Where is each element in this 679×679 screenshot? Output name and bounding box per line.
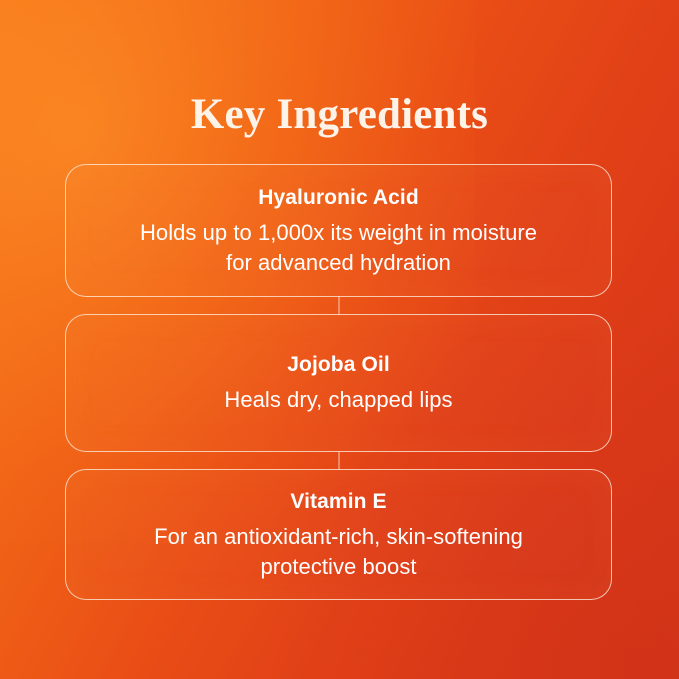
ingredient-card-title: Vitamin E (290, 488, 386, 515)
ingredient-card-wrapper: Vitamin E For an antioxidant-rich, skin-… (65, 469, 612, 600)
ingredient-card-description: Holds up to 1,000x its weight in moistur… (139, 218, 539, 278)
ingredient-card-description: Heals dry, chapped lips (224, 385, 452, 415)
ingredient-card-description: For an antioxidant-rich, skin-softening … (139, 522, 539, 582)
ingredient-card-stack: Hyaluronic Acid Holds up to 1,000x its w… (65, 164, 612, 600)
page-title: Key Ingredients (0, 90, 679, 140)
ingredients-infographic: Key Ingredients Hyaluronic Acid Holds up… (0, 0, 679, 679)
ingredient-card-jojoba-oil[interactable]: Jojoba Oil Heals dry, chapped lips (65, 314, 612, 452)
ingredient-card-wrapper: Hyaluronic Acid Holds up to 1,000x its w… (65, 164, 612, 297)
card-connector-line (65, 452, 612, 469)
ingredient-card-title: Jojoba Oil (287, 351, 390, 378)
ingredient-card-wrapper: Jojoba Oil Heals dry, chapped lips (65, 314, 612, 452)
ingredient-card-hyaluronic-acid[interactable]: Hyaluronic Acid Holds up to 1,000x its w… (65, 164, 612, 297)
card-connector-line (65, 297, 612, 314)
ingredient-card-title: Hyaluronic Acid (258, 184, 419, 211)
ingredient-card-vitamin-e[interactable]: Vitamin E For an antioxidant-rich, skin-… (65, 469, 612, 600)
